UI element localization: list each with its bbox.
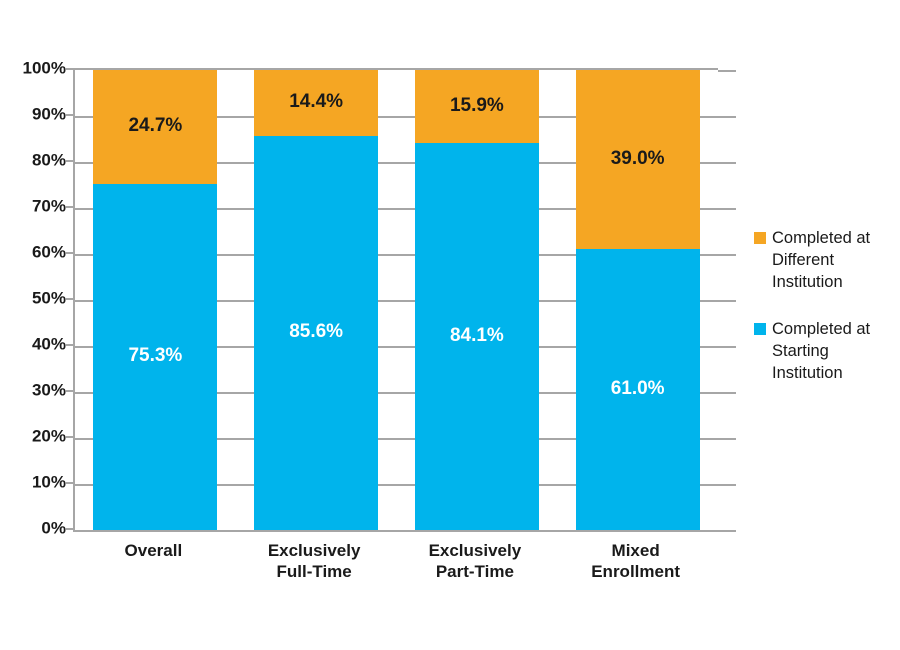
y-tick-mark-right (718, 438, 736, 440)
bar-value-label: 24.7% (93, 116, 217, 135)
bar-group[interactable]: 85.6%14.4% (254, 70, 378, 530)
y-axis: 0%10%20%30%40%50%60%70%80%90%100% (0, 68, 66, 532)
y-tick-mark-right (718, 116, 736, 118)
bar-segment-completed-at-different-institution[interactable]: 39.0% (576, 70, 700, 249)
y-axis-tick-label: 30% (4, 382, 66, 399)
y-axis-tick-label: 50% (4, 290, 66, 307)
bar-segment-completed-at-different-institution[interactable]: 24.7% (93, 70, 217, 184)
y-tick-mark-right (718, 346, 736, 348)
bar-value-label: 75.3% (93, 346, 217, 365)
bar-value-label: 14.4% (254, 92, 378, 111)
y-tick-mark-right (718, 484, 736, 486)
bar-segment-completed-at-different-institution[interactable]: 14.4% (254, 70, 378, 136)
bar-value-label: 39.0% (576, 149, 700, 168)
y-tick-mark-right (718, 208, 736, 210)
legend-swatch-icon (754, 232, 766, 244)
y-tick-mark-right (718, 254, 736, 256)
bar-value-label: 85.6% (254, 322, 378, 341)
legend-swatch-icon (754, 323, 766, 335)
bar-segment-completed-at-starting-institution[interactable]: 84.1% (415, 143, 539, 530)
y-axis-tick-label: 60% (4, 244, 66, 261)
y-axis-tick-label: 90% (4, 106, 66, 123)
legend-label: Completed at Starting Institution (772, 320, 870, 382)
bar-value-label: 84.1% (415, 326, 539, 345)
plot-area: 75.3%24.7%85.6%14.4%84.1%15.9%61.0%39.0% (73, 68, 718, 532)
y-tick-mark-right (718, 70, 736, 72)
y-axis-tick-label: 10% (4, 474, 66, 491)
bar-group[interactable]: 84.1%15.9% (415, 70, 539, 530)
y-axis-tick-label: 70% (4, 198, 66, 215)
bar-segment-completed-at-starting-institution[interactable]: 75.3% (93, 184, 217, 530)
bar-segment-completed-at-starting-institution[interactable]: 85.6% (254, 136, 378, 530)
bar-value-label: 15.9% (415, 96, 539, 115)
x-axis-category-label-line: Full-Time (234, 561, 395, 582)
x-axis-category-label: MixedEnrollment (555, 540, 716, 583)
bar-segment-completed-at-starting-institution[interactable]: 61.0% (576, 249, 700, 530)
y-axis-tick-label: 80% (4, 152, 66, 169)
legend-label: Completed at Different Institution (772, 229, 870, 291)
x-axis-category-label: Overall (73, 540, 234, 561)
x-axis: OverallExclusivelyFull-TimeExclusivelyPa… (73, 540, 718, 600)
bar-group[interactable]: 61.0%39.0% (576, 70, 700, 530)
y-tick-mark-right (718, 392, 736, 394)
x-axis-category-label: ExclusivelyFull-Time (234, 540, 395, 583)
x-axis-category-label-line: Enrollment (555, 561, 716, 582)
legend-entry[interactable]: Completed at Different Institution (752, 228, 897, 293)
y-axis-tick-label: 0% (4, 520, 66, 537)
x-axis-category-label-line: Part-Time (395, 561, 556, 582)
y-tick-mark-right (718, 162, 736, 164)
x-axis-category-label-line: Exclusively (395, 540, 556, 561)
stacked-bar-chart: 0%10%20%30%40%50%60%70%80%90%100% 75.3%2… (0, 0, 900, 650)
legend-entry[interactable]: Completed at Starting Institution (752, 319, 897, 384)
x-axis-category-label-line: Exclusively (234, 540, 395, 561)
bar-value-label: 61.0% (576, 379, 700, 398)
y-tick-mark-right (718, 300, 736, 302)
x-axis-category-label: ExclusivelyPart-Time (395, 540, 556, 583)
y-axis-tick-label: 20% (4, 428, 66, 445)
x-axis-category-label-line: Overall (73, 540, 234, 561)
y-tick-mark-right (718, 530, 736, 532)
y-axis-tick-label: 40% (4, 336, 66, 353)
x-axis-category-label-line: Mixed (555, 540, 716, 561)
bar-group[interactable]: 75.3%24.7% (93, 70, 217, 530)
bar-segment-completed-at-different-institution[interactable]: 15.9% (415, 70, 539, 143)
y-axis-tick-label: 100% (4, 60, 66, 77)
legend: Completed at Different InstitutionComple… (752, 228, 897, 411)
